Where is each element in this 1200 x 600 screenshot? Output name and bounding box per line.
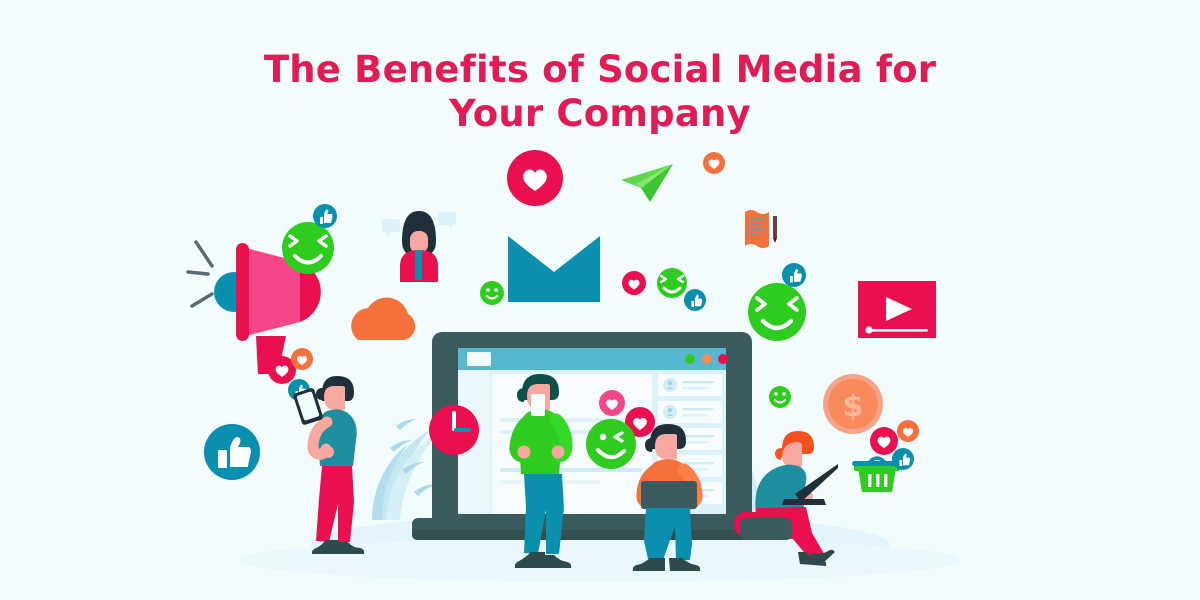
smiley-small-icon [480,281,504,305]
laptop-base-shadow [412,530,778,540]
person-with-phone [293,376,365,554]
cloud-icon [351,298,415,340]
bench-edge [740,518,792,540]
social-media-illustration: $ [0,0,1200,600]
thumbs-up-large-icon [204,424,260,480]
video-player-icon[interactable] [858,281,936,338]
svg-text:$: $ [843,389,864,424]
paper-plane-icon [621,164,673,202]
illustration-canvas: The Benefits of Social Media for Your Co… [0,0,1200,600]
smiley-squint-icon [282,222,334,274]
envelope-icon [508,236,600,302]
browser-tab[interactable] [467,352,491,366]
thumbs-up-badge-icon [313,204,337,228]
browser-dot-red[interactable] [718,354,728,364]
browser-dot-green[interactable] [685,354,695,364]
contact-card[interactable] [658,401,722,423]
browser-dot-orange[interactable] [702,354,712,364]
business-avatar-icon [382,211,456,282]
contact-card[interactable] [658,374,722,396]
dollar-coin-icon: $ [823,374,883,434]
note-pencil-icon [745,210,777,248]
heart-badge-orange-icon [703,152,725,174]
heart-circle-icon [507,150,563,206]
clock-icon [429,405,479,455]
smiley-squint-right-icon [748,283,806,341]
